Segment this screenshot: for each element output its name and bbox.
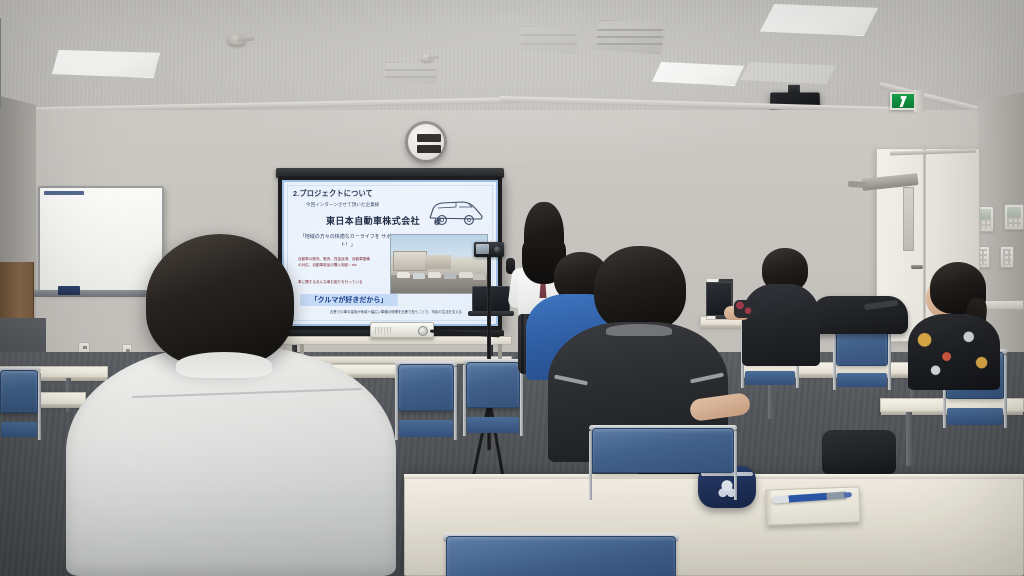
chair-seat <box>745 371 795 386</box>
clock-face-upper <box>417 134 441 142</box>
attendee-patterned <box>908 262 1004 382</box>
ceiling-light-panel <box>760 4 878 36</box>
chair[interactable] <box>0 370 38 440</box>
chair-back <box>398 364 454 411</box>
ceiling-light-panel <box>52 50 160 78</box>
table-leg <box>906 412 912 466</box>
photo-car <box>413 273 425 279</box>
chair-back <box>592 428 734 473</box>
slide-title: 2.プロジェクトについて <box>293 189 373 200</box>
laptop-screen[interactable] <box>472 286 510 312</box>
clock-face-lower <box>417 145 441 153</box>
chair[interactable] <box>592 428 734 500</box>
chair[interactable] <box>466 362 520 436</box>
control-display <box>1007 207 1021 217</box>
switch-buttons[interactable] <box>1003 249 1011 265</box>
control-buttons[interactable] <box>1007 217 1021 227</box>
emergency-exit-sign-icon <box>890 92 916 110</box>
smoke-detector <box>421 54 434 62</box>
video-camera[interactable] <box>474 242 504 257</box>
foreground-head <box>146 234 294 366</box>
chair-back <box>446 536 676 576</box>
ceiling-light-panel <box>740 62 836 84</box>
classroom-scene: 2.プロジェクトについて 今回インターンさせて頂いた企業様 東日本自動車株式会社… <box>0 0 1024 576</box>
projector-lens-icon <box>418 326 428 336</box>
photo-car <box>428 272 441 278</box>
air-vent <box>592 20 668 54</box>
shirt-collar <box>176 352 272 378</box>
polo-collar <box>606 324 672 336</box>
chair-back <box>466 362 520 408</box>
whiteboard-eraser <box>58 286 80 295</box>
chair[interactable] <box>398 364 454 440</box>
chair-seat <box>1 422 37 437</box>
chair-post <box>734 431 737 500</box>
chair-seat <box>837 373 887 387</box>
car-line-drawing-icon <box>426 196 486 228</box>
chair[interactable] <box>836 326 888 390</box>
bag-strap <box>864 300 899 311</box>
attendee-torso <box>908 314 1000 390</box>
control-panel[interactable] <box>1004 204 1024 230</box>
photo-car <box>459 272 473 278</box>
black-bag <box>812 296 908 334</box>
dealership-building <box>393 251 427 271</box>
door-window <box>903 187 914 251</box>
attendee-head <box>594 246 686 332</box>
laptop-keyboard[interactable] <box>468 311 514 316</box>
chair-seat <box>399 420 453 437</box>
photo-car <box>397 272 410 278</box>
black-bag <box>822 430 896 474</box>
notebook-spine <box>766 490 772 524</box>
dealership-canopy <box>425 255 451 269</box>
chair-seat <box>947 408 1003 425</box>
chair-post <box>888 329 891 390</box>
camera-screen <box>476 244 489 254</box>
chair-post <box>833 329 836 390</box>
air-vent <box>380 62 442 84</box>
chair-back <box>0 370 38 413</box>
chair-seat <box>467 417 519 433</box>
foreground-attendee <box>98 234 398 576</box>
whiteboard-top-strip <box>44 191 84 195</box>
slide-company-name: 東日本自動車株式会社 <box>326 214 420 227</box>
photo-car <box>444 273 456 279</box>
whiteboard-rail <box>0 18 1 108</box>
chair-post <box>589 431 592 500</box>
photo-car <box>473 274 486 280</box>
chair-post <box>1004 355 1007 428</box>
chair-post <box>38 373 41 440</box>
chair-post <box>463 365 466 436</box>
chair[interactable] <box>446 536 676 576</box>
wall-clock <box>405 121 447 163</box>
running-person-glyph <box>899 96 908 107</box>
attendee-torso <box>742 284 820 366</box>
camera-lens-icon <box>493 245 502 254</box>
patterned-sleeve <box>734 300 754 318</box>
smoke-detector <box>228 34 246 45</box>
chair-post <box>454 367 457 440</box>
foreground-shirt <box>66 346 396 576</box>
air-vent <box>516 26 582 54</box>
slide-subtitle: 今回インターンさせて頂いた企業様 <box>306 202 379 208</box>
exit-sign-housing <box>914 90 924 112</box>
